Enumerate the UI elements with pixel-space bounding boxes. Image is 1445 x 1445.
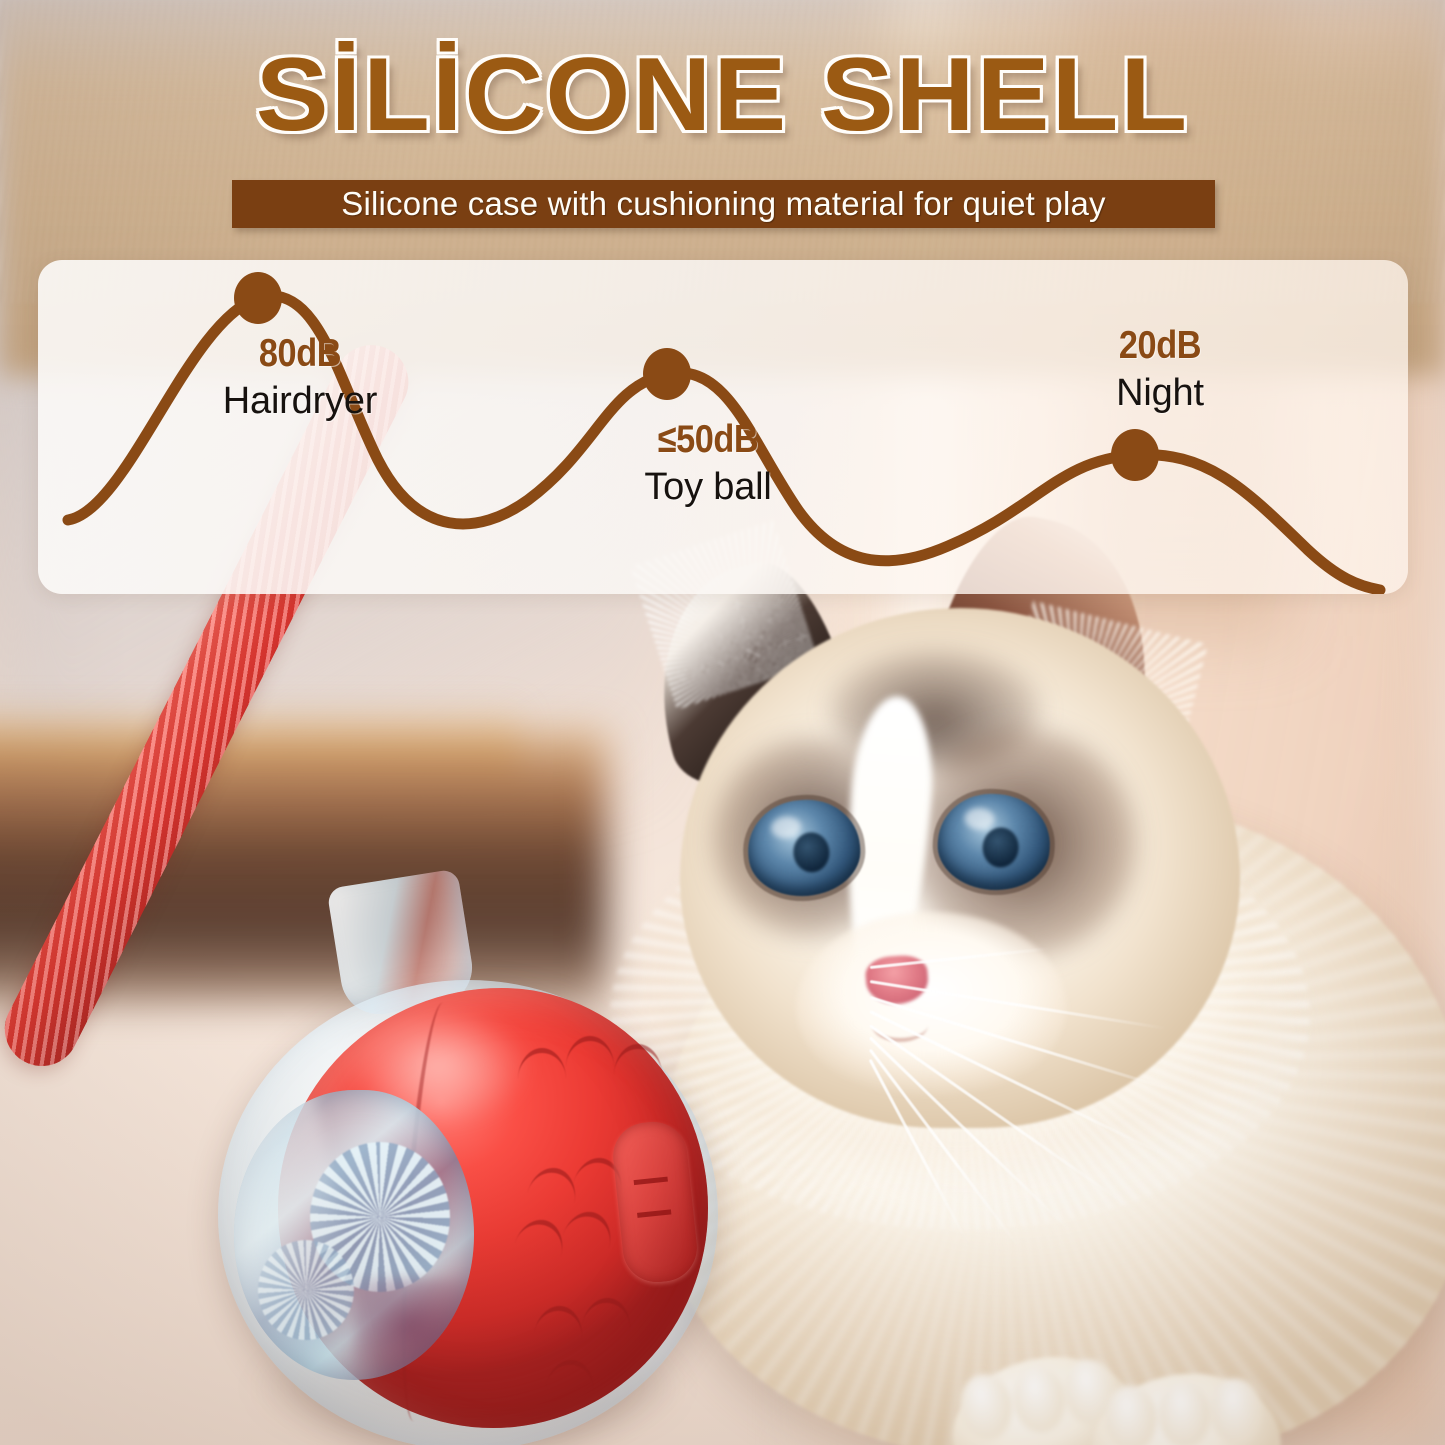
- chart-label-night: 20dB Night: [1030, 324, 1290, 415]
- data-point-toyball: [643, 348, 691, 400]
- chart-label-toyball-name: Toy ball: [568, 466, 848, 509]
- subtitle-banner: Silicone case with cushioning material f…: [232, 180, 1215, 228]
- product-infographic: 80dB Hairdryer ≤50dB Toy ball 20dB Night…: [0, 0, 1445, 1445]
- page-title: SİLİCONE SHELL: [0, 36, 1445, 155]
- chart-label-hairdryer: 80dB Hairdryer: [150, 332, 450, 423]
- data-point-hairdryer: [234, 272, 282, 324]
- chart-label-hairdryer-db: 80dB: [168, 332, 432, 376]
- chart-label-night-name: Night: [1030, 372, 1290, 415]
- subtitle-text: Silicone case with cushioning material f…: [341, 185, 1106, 223]
- chart-label-hairdryer-name: Hairdryer: [150, 380, 450, 423]
- chart-label-night-db: 20dB: [1046, 324, 1275, 368]
- noise-level-chart-panel: 80dB Hairdryer ≤50dB Toy ball 20dB Night: [38, 260, 1408, 594]
- chart-label-toyball-db: ≤50dB: [585, 418, 831, 462]
- data-point-night: [1111, 429, 1159, 481]
- chart-label-toyball: ≤50dB Toy ball: [568, 418, 848, 509]
